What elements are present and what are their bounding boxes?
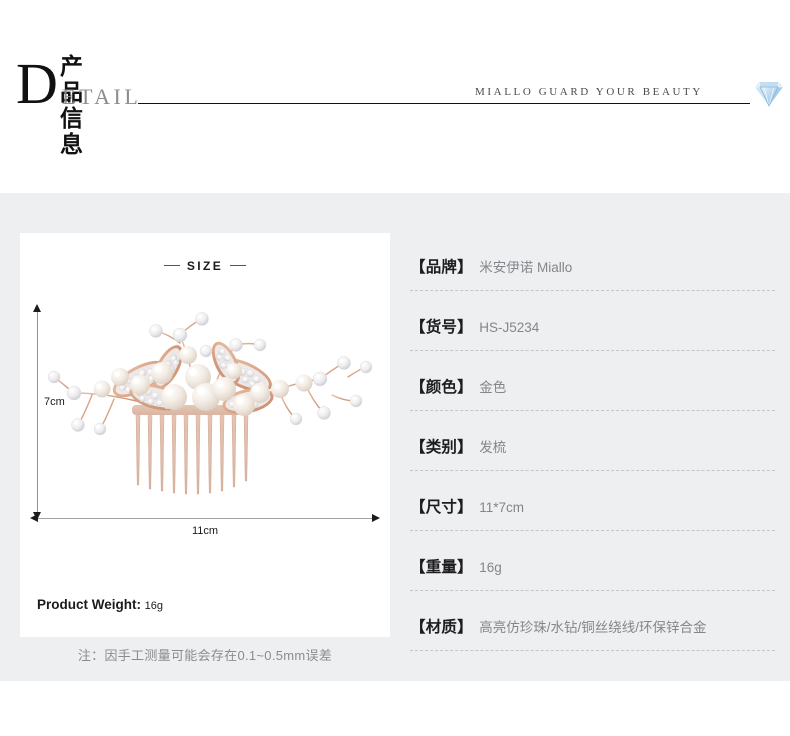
spec-value: 米安伊诺 Miallo (479, 260, 572, 275)
content-area: SIZE (0, 193, 790, 681)
spec-text: 【类别】 发梳 (410, 435, 506, 457)
dash-right (230, 265, 246, 266)
product-weight-value: 16g (145, 600, 163, 612)
spec-key: 【类别】 (410, 439, 473, 456)
spec-value: 11*7cm (479, 500, 524, 515)
height-dimension-label: 7cm (44, 396, 65, 408)
size-label-text: SIZE (187, 259, 223, 273)
spec-row-brand: 【品牌】 米安伊诺 Miallo (410, 231, 775, 291)
height-dimension-arrow (37, 311, 38, 513)
brand-tagline: MIALLO GUARD YOUR BEAUTY (475, 86, 703, 99)
header-divider (138, 103, 750, 104)
measurement-note: 注：因手工测量可能会存在0.1~0.5mm误差 (20, 645, 390, 664)
spec-text: 【货号】 HS-J5234 (410, 315, 539, 337)
spec-value: 金色 (479, 380, 506, 395)
spec-value: 16g (479, 560, 502, 575)
product-weight: Product Weight: 16g (37, 597, 163, 612)
product-image (48, 293, 378, 518)
width-dimension-label: 11cm (20, 525, 390, 537)
spec-key: 【品牌】 (410, 259, 473, 276)
spec-key: 【重量】 (410, 559, 473, 576)
page-subtitle: ETAIL (62, 85, 141, 109)
spec-key: 【颜色】 (410, 379, 473, 396)
width-dimension-arrow (37, 518, 373, 519)
spec-value: HS-J5234 (479, 320, 539, 335)
spec-text: 【材质】 高亮仿珍珠/水钻/铜丝绕线/环保锌合金 (410, 615, 707, 637)
spec-text: 【重量】 16g (410, 555, 502, 577)
spec-text: 【尺寸】 11*7cm (410, 495, 524, 517)
spec-separator (410, 650, 775, 651)
spec-row-category: 【类别】 发梳 (410, 411, 775, 471)
spec-list: 【品牌】 米安伊诺 Miallo 【货号】 HS-J5234 【颜色】 金色 【… (410, 231, 775, 651)
size-section-label: SIZE (20, 259, 390, 273)
spec-value: 发梳 (479, 440, 506, 455)
spec-text: 【颜色】 金色 (410, 375, 506, 397)
spec-value: 高亮仿珍珠/水钻/铜丝绕线/环保锌合金 (479, 620, 706, 635)
spec-key: 【材质】 (410, 619, 473, 636)
diamond-icon (753, 79, 785, 109)
spec-row-color: 【颜色】 金色 (410, 351, 775, 411)
product-weight-label: Product Weight: (37, 597, 141, 612)
spec-row-item-number: 【货号】 HS-J5234 (410, 291, 775, 351)
product-size-card: SIZE (20, 233, 390, 637)
spec-key: 【尺寸】 (410, 499, 473, 516)
spec-row-weight: 【重量】 16g (410, 531, 775, 591)
spec-key: 【货号】 (410, 319, 473, 336)
dash-left (164, 265, 180, 266)
spec-row-material: 【材质】 高亮仿珍珠/水钻/铜丝绕线/环保锌合金 (410, 591, 775, 651)
spec-row-size: 【尺寸】 11*7cm (410, 471, 775, 531)
drop-cap-letter: D (16, 55, 58, 113)
page-header: D 产品信息 ETAIL MIALLO GUARD YOUR BEAUTY (0, 0, 790, 193)
spec-text: 【品牌】 米安伊诺 Miallo (410, 255, 572, 277)
